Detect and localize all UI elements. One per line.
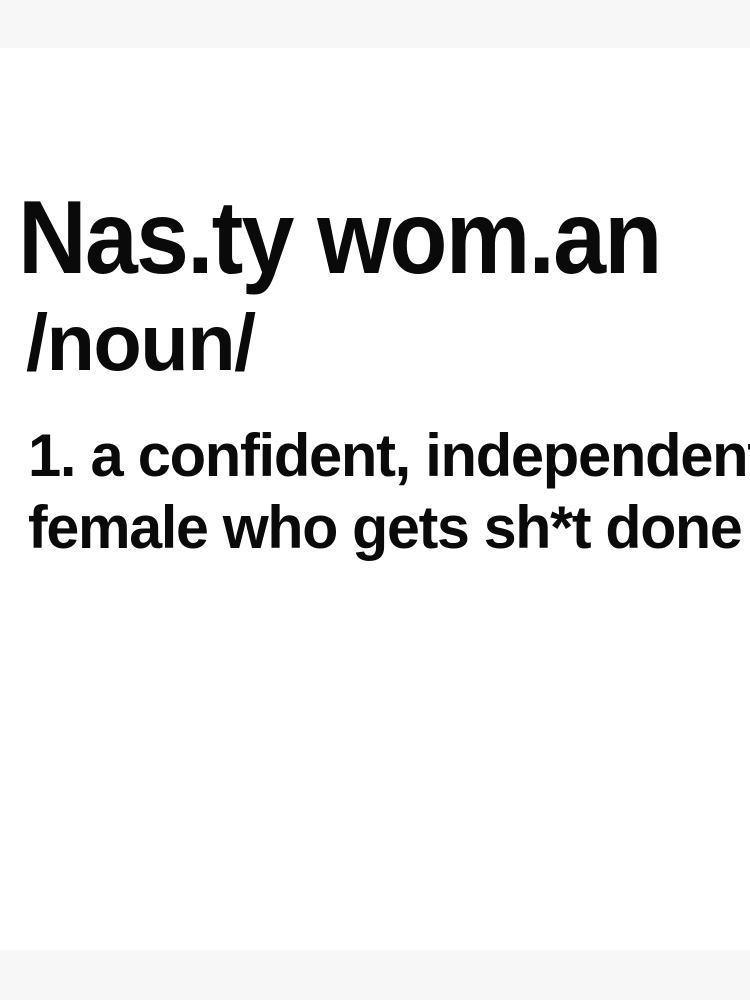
definition-line-1: 1. a confident, independent (28, 426, 750, 486)
poster-canvas: Nas.ty wom.an /noun/ 1. a confident, ind… (0, 0, 750, 1000)
definition-line-2: female who gets sh*t done (28, 498, 741, 558)
definition-headword: Nas.ty wom.an (18, 186, 661, 290)
top-letterbox-band (0, 0, 750, 48)
print-artwork-area: Nas.ty wom.an /noun/ 1. a confident, ind… (0, 48, 750, 950)
bottom-letterbox-band (0, 950, 750, 1000)
part-of-speech-label: /noun/ (26, 303, 255, 383)
